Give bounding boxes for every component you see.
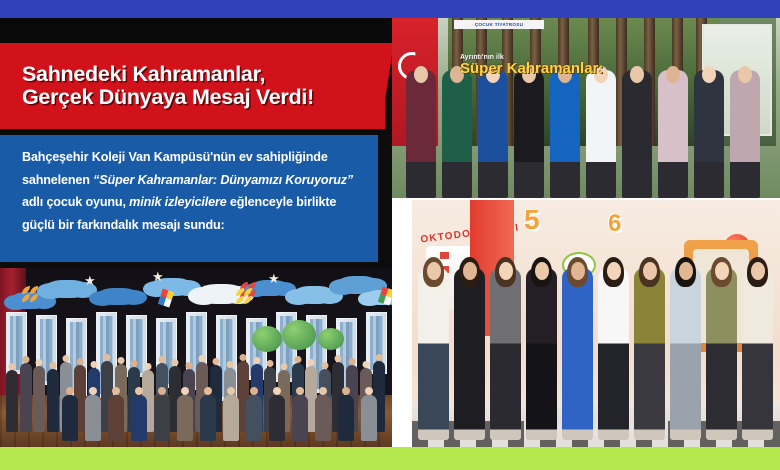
- person-seated: [131, 395, 147, 441]
- person-seated: [62, 395, 78, 441]
- wall-number-5: 5: [524, 204, 540, 236]
- person-head: [77, 358, 84, 365]
- person-standing: [634, 268, 665, 440]
- news-card: Sahnedeki Kahramanlar, Gerçek Dünyaya Me…: [0, 0, 780, 470]
- pinwheel-cutout: [22, 286, 38, 302]
- person-head: [104, 354, 111, 361]
- person-head: [607, 262, 621, 280]
- person-head: [250, 387, 258, 395]
- person-head: [135, 387, 143, 395]
- person-head: [414, 66, 428, 83]
- person-head: [738, 66, 752, 83]
- person-head: [463, 262, 477, 280]
- person-seated: [361, 395, 377, 441]
- person-standing: [442, 70, 472, 198]
- person-head: [117, 357, 124, 364]
- person-head: [36, 359, 43, 366]
- person-seated: [246, 395, 262, 441]
- person-head: [365, 387, 373, 395]
- stage-scene: ★★★: [0, 268, 392, 447]
- person-head: [66, 387, 74, 395]
- person-head: [226, 361, 233, 368]
- person-standing: [514, 70, 544, 198]
- person-head: [204, 387, 212, 395]
- tree-cutout: [252, 326, 282, 352]
- person-head: [240, 354, 247, 361]
- person-standing: [730, 70, 760, 198]
- person-head: [131, 360, 138, 367]
- pinwheel-blade: [30, 294, 38, 302]
- person-head: [145, 363, 152, 370]
- pinwheel-blade: [22, 286, 30, 294]
- person-head: [281, 363, 288, 370]
- person-standing: [478, 70, 508, 198]
- star-cutout: ★: [84, 274, 96, 287]
- photo-stage-group: ★★★: [0, 268, 392, 447]
- person-head: [267, 360, 274, 367]
- person-standing: [622, 70, 652, 198]
- header-black-gap: [0, 18, 392, 43]
- person-seated: [292, 395, 308, 441]
- person-standing: [550, 70, 580, 198]
- pinwheel-blade: [236, 296, 244, 304]
- photo-banner-group: ÇOCUK TİYATROSU Ayrıntı'nın ilk Süper Ka…: [392, 18, 780, 198]
- right-column: ÇOCUK TİYATROSU Ayrıntı'nın ilk Süper Ka…: [392, 18, 780, 447]
- person-head: [22, 356, 29, 363]
- summary-segment-3: minik izleyicilere: [129, 195, 226, 209]
- person-head: [296, 387, 304, 395]
- person-head: [349, 358, 356, 365]
- person-seated: [223, 395, 239, 441]
- person-standing: [586, 70, 616, 198]
- cloud-cutout: [96, 288, 140, 305]
- person-seated: [269, 395, 285, 441]
- person-standing: [406, 70, 436, 198]
- person-seated: [315, 395, 331, 441]
- person-head: [702, 66, 716, 83]
- person-head: [253, 357, 260, 364]
- right-white-margin: [392, 200, 414, 447]
- person-head: [158, 387, 166, 395]
- person-head: [427, 262, 441, 280]
- person-seated: [108, 395, 124, 441]
- headline-line-2: Gerçek Dünyaya Mesaj Verdi!: [22, 86, 377, 109]
- person-standing: [20, 363, 32, 432]
- person-head: [535, 262, 549, 280]
- summary-banner: Bahçeşehir Koleji Van Kampüsü'nün ev sah…: [0, 135, 378, 262]
- person-standing: [658, 70, 688, 198]
- person-head: [112, 387, 120, 395]
- person-head: [643, 262, 657, 280]
- star-cutout: ★: [268, 272, 280, 285]
- kids-scene: OKTODOX ADASI 5 6: [412, 200, 780, 447]
- person-head: [185, 362, 192, 369]
- banner-kicker-strip: ÇOCUK TİYATROSU: [454, 20, 544, 29]
- person-standing: [562, 268, 593, 440]
- headline-line-1: Sahnedeki Kahramanlar,: [22, 63, 377, 86]
- person-head: [751, 262, 765, 280]
- person-head: [63, 355, 70, 362]
- banner-title-text: Süper Kahramanlar:: [460, 60, 603, 77]
- person-head: [308, 359, 315, 366]
- person-head: [172, 359, 179, 366]
- person-standing: [706, 268, 737, 440]
- person-head: [273, 387, 281, 395]
- person-head: [362, 361, 369, 368]
- top-accent-band: [0, 0, 780, 18]
- person-seated: [200, 395, 216, 441]
- person-head: [227, 387, 235, 395]
- person-head: [335, 355, 342, 362]
- person-head: [9, 363, 16, 370]
- pinwheel-blade: [244, 288, 252, 296]
- person-seated: [177, 395, 193, 441]
- person-seated: [85, 395, 101, 441]
- person-head: [342, 387, 350, 395]
- person-standing: [47, 369, 59, 432]
- summary-text: Bahçeşehir Koleji Van Kampüsü'nün ev sah…: [22, 146, 362, 237]
- person-standing: [694, 70, 724, 198]
- person-seated: [154, 395, 170, 441]
- summary-segment-1: “Süper Kahramanlar: Dünyamızı Koruyoruz”: [93, 173, 353, 187]
- pinwheel-blade: [22, 294, 30, 302]
- wall-number-6: 6: [608, 210, 621, 238]
- person-standing: [526, 268, 557, 440]
- person-head: [199, 355, 206, 362]
- pinwheel-cutout: [236, 288, 252, 304]
- left-column: Sahnedeki Kahramanlar, Gerçek Dünyaya Me…: [0, 18, 392, 447]
- banner-scene: ÇOCUK TİYATROSU Ayrıntı'nın ilk Süper Ka…: [392, 18, 780, 198]
- person-head: [321, 362, 328, 369]
- person-head: [376, 354, 383, 361]
- person-standing: [742, 268, 773, 440]
- person-standing: [6, 370, 18, 432]
- person-standing: [490, 268, 521, 440]
- bottom-accent-band: [0, 447, 780, 470]
- summary-segment-2: adlı çocuk oyunu,: [22, 195, 129, 209]
- person-head: [89, 387, 97, 395]
- pinwheel-blade: [244, 296, 252, 304]
- person-standing: [454, 268, 485, 440]
- person-head: [158, 356, 165, 363]
- person-standing: [598, 268, 629, 440]
- person-head: [499, 262, 513, 280]
- person-seated: [338, 395, 354, 441]
- person-standing: [418, 268, 449, 440]
- tree-cutout: [318, 328, 344, 350]
- banner-kicker-text: ÇOCUK TİYATROSU: [454, 20, 544, 29]
- person-head: [49, 362, 56, 369]
- headline-banner: Sahnedeki Kahramanlar, Gerçek Dünyaya Me…: [0, 43, 385, 129]
- star-cutout: ★: [152, 270, 164, 283]
- person-head: [319, 387, 327, 395]
- person-standing: [670, 268, 701, 440]
- person-head: [715, 262, 729, 280]
- person-standing: [33, 366, 45, 432]
- person-head: [294, 356, 301, 363]
- pinwheel-blade: [30, 286, 38, 294]
- person-head: [213, 358, 220, 365]
- person-head: [181, 387, 189, 395]
- tree-cutout: [282, 320, 316, 350]
- banner-title: Ayrıntı'nın ilk Süper Kahramanlar:: [460, 54, 690, 76]
- person-head: [90, 361, 97, 368]
- person-head: [679, 262, 693, 280]
- photo-kids-group: OKTODOX ADASI 5 6: [412, 200, 780, 447]
- pinwheel-blade: [236, 288, 244, 296]
- person-head: [571, 262, 585, 280]
